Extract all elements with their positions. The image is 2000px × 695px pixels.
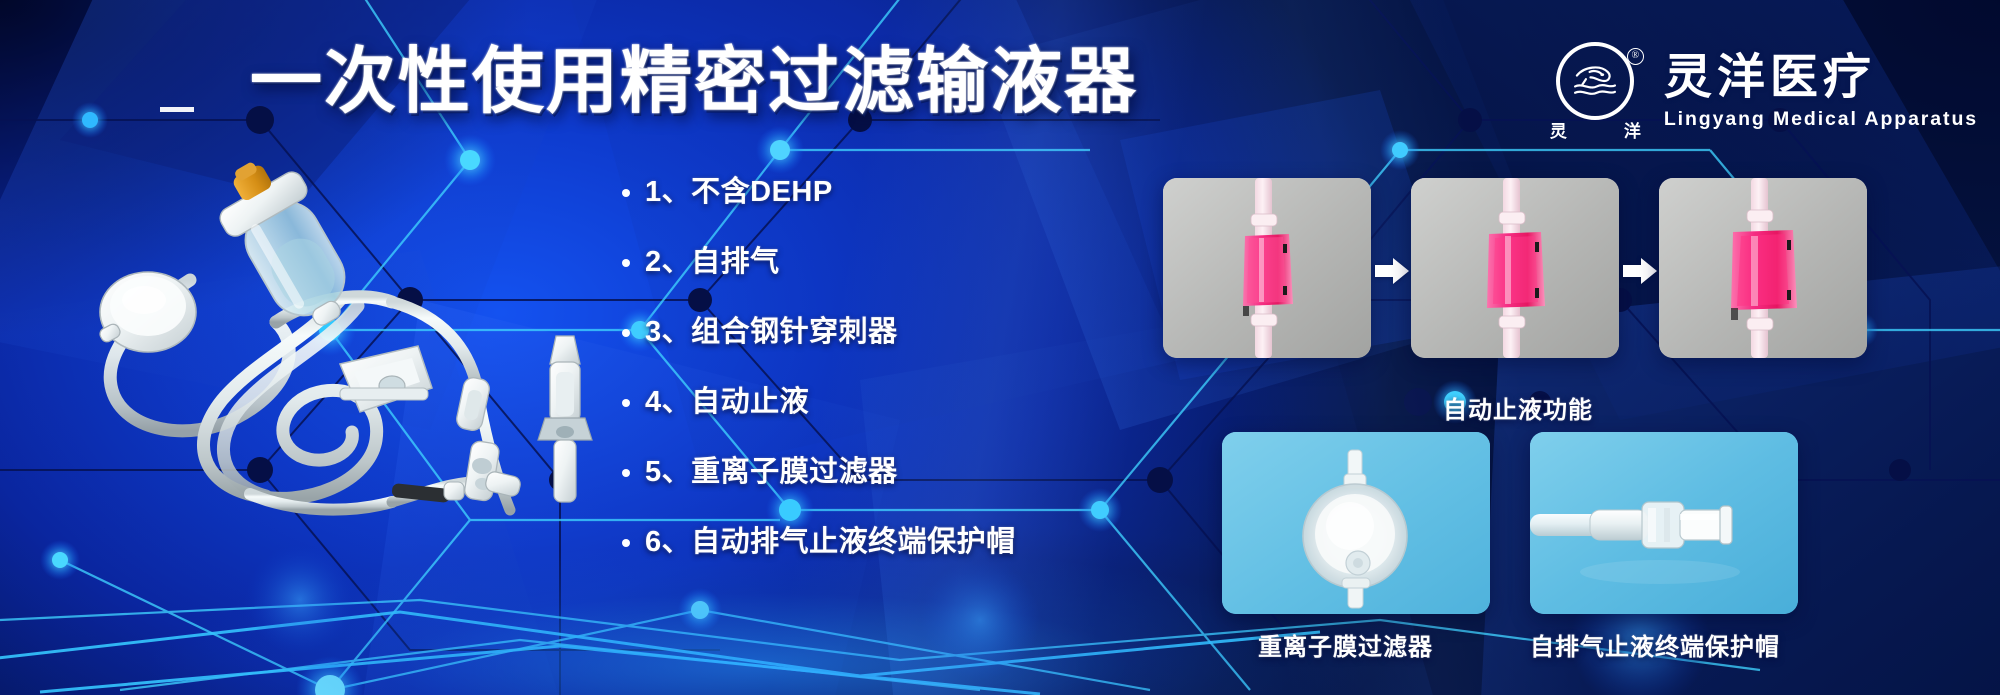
- company-name-en: Lingyang Medical Apparatus: [1664, 108, 1978, 131]
- page-title: 一次性使用精密过滤输液器: [250, 46, 1138, 118]
- arrow-right-icon-2: [1623, 258, 1657, 284]
- feature-item-6: 6、自动排气止液终端保护帽: [645, 518, 1016, 560]
- feature-item-4: 4、自动止液: [645, 378, 1016, 420]
- demo-sequence-caption: 自动止液功能: [1443, 390, 1593, 425]
- banner-title-area: 一次性使用精密过滤输液器: [250, 46, 1138, 118]
- logo-mark-char-right: 洋: [1624, 117, 1642, 142]
- detail-panel-cap: [1530, 432, 1798, 614]
- logo-mark: ® 灵 洋: [1550, 42, 1642, 142]
- demo-frame-3: [1659, 178, 1867, 358]
- stop-valve-photo-1: [1163, 178, 1371, 358]
- registered-trademark-icon: ®: [1627, 48, 1644, 65]
- detail-panel-filter-caption: 重离子膜过滤器: [1258, 627, 1433, 662]
- company-name-cn: 灵洋医疗: [1664, 53, 1876, 103]
- heavy-ion-membrane-filter-photo: [1222, 432, 1490, 614]
- feature-item-3: 3、组合钢针穿刺器: [645, 308, 1016, 350]
- detail-panel-filter: [1222, 432, 1490, 614]
- detail-panel-cap-caption: 自排气止液终端保护帽: [1530, 627, 1780, 662]
- logo-glyph-svg: [1566, 52, 1624, 110]
- feature-item-1: 1、不含DEHP: [645, 168, 1016, 210]
- stop-valve-photo-3: [1659, 178, 1867, 358]
- logo-mark-char-left: 灵: [1550, 117, 1568, 142]
- logo-mark-characters: 灵 洋: [1550, 117, 1642, 142]
- auto-vent-terminal-cap-photo: [1530, 432, 1798, 614]
- demo-frame-2: [1411, 178, 1619, 358]
- demo-frame-1: [1163, 178, 1371, 358]
- feature-item-2: 2、自排气: [645, 238, 1016, 280]
- brand-logo[interactable]: ® 灵 洋 灵洋医疗 Lingyang Medical Apparatus: [1550, 42, 1978, 142]
- feature-list: 1、不含DEHP 2、自排气 3、组合钢针穿刺器 4、自动止液 5、重离子膜过滤…: [645, 168, 1016, 560]
- arrow-right-icon: [1375, 258, 1409, 284]
- promotional-banner: 一次性使用精密过滤输液器 ® 灵 洋: [0, 0, 2000, 695]
- wave-fish-circle-icon: [1556, 42, 1634, 120]
- feature-item-5: 5、重离子膜过滤器: [645, 448, 1016, 490]
- logo-text-block: 灵洋医疗 Lingyang Medical Apparatus: [1664, 53, 1978, 130]
- stop-valve-photo-2: [1411, 178, 1619, 358]
